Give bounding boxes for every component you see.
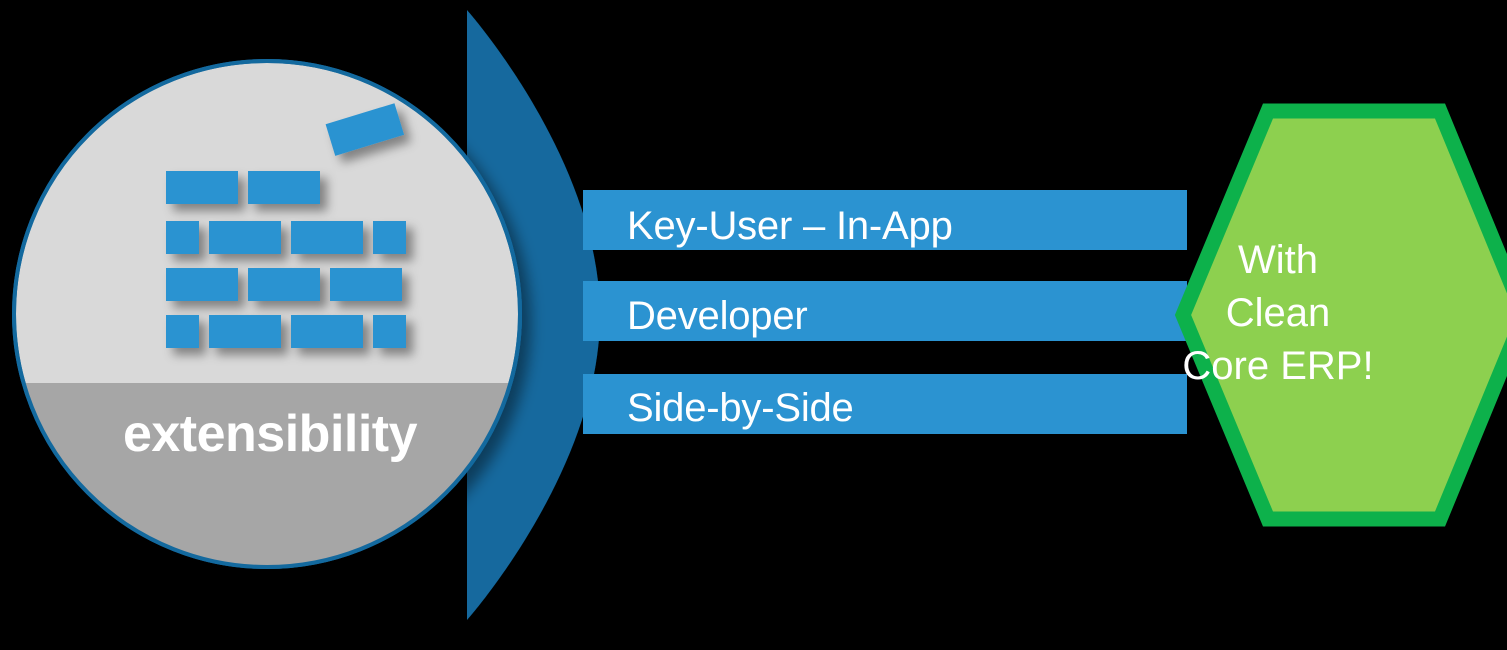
- bar-label-key-user: Key-User – In-App: [627, 206, 953, 246]
- hexagon-line-3: Core ERP!: [1128, 340, 1428, 393]
- hexagon-caption: With Clean Core ERP!: [1128, 234, 1428, 392]
- diagram-canvas: Key-User – In-App Developer Side-by-Side…: [0, 0, 1507, 650]
- circle-caption-text: extensibility: [60, 408, 480, 460]
- bar-label-developer: Developer: [627, 296, 808, 336]
- hexagon-line-2: Clean: [1128, 287, 1428, 340]
- hexagon-line-1: With: [1128, 234, 1428, 287]
- bar-label-side-by-side: Side-by-Side: [627, 388, 854, 428]
